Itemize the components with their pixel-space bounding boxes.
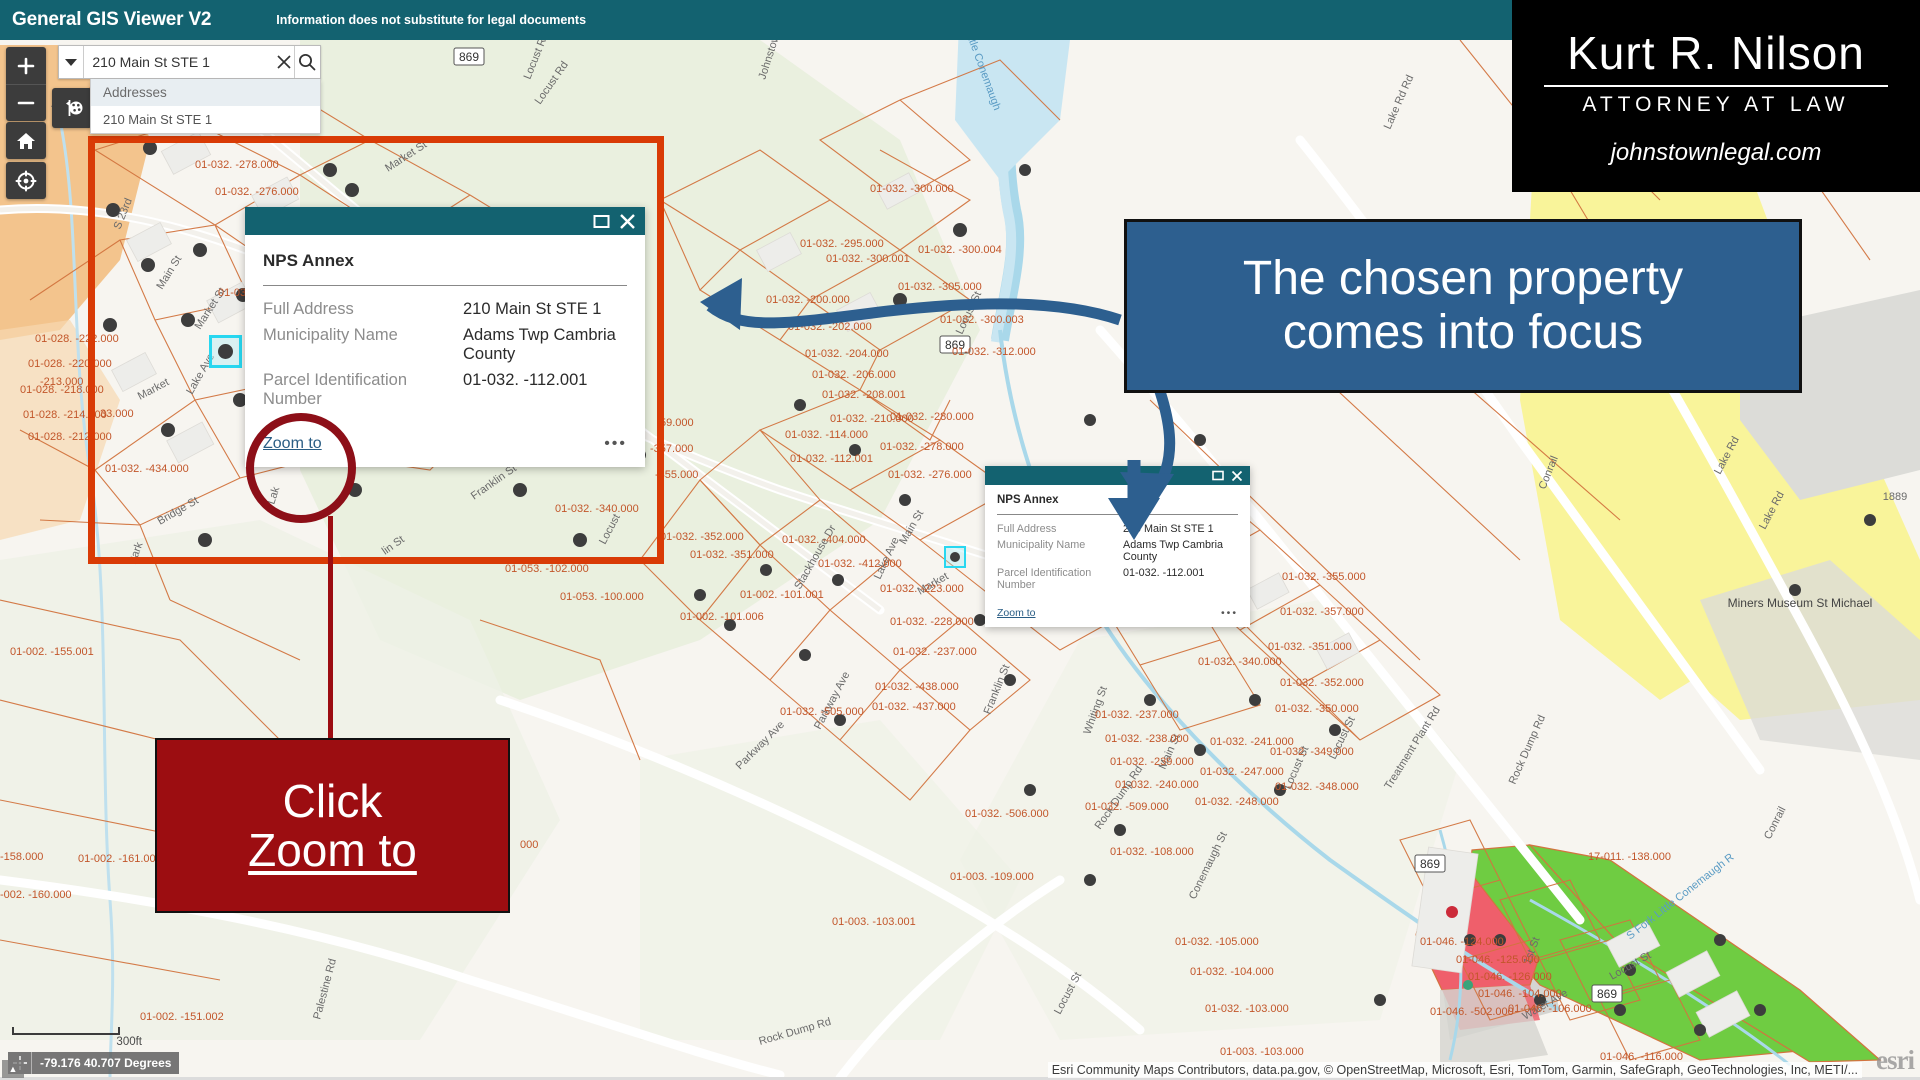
svg-text:59.000: 59.000 — [660, 417, 694, 429]
svg-text:01-002. -101.006: 01-002. -101.006 — [680, 611, 764, 623]
svg-text:01-032. -278.000: 01-032. -278.000 — [880, 441, 964, 453]
svg-text:01-032. -404.000: 01-032. -404.000 — [782, 534, 866, 546]
attribute-key: Full Address — [263, 300, 463, 319]
svg-text:-002. -160.000: -002. -160.000 — [0, 889, 72, 901]
attribute-key: Full Address — [997, 523, 1123, 535]
brand-name: Kurt R. Nilson — [1567, 26, 1865, 80]
search-widget: Addresses 210 Main St STE 1 — [58, 45, 321, 134]
svg-text:01-032. -280.000: 01-032. -280.000 — [890, 411, 974, 423]
svg-text:01-032. -350.000: 01-032. -350.000 — [1275, 703, 1359, 715]
svg-text:01-032. -300.003: 01-032. -300.003 — [940, 314, 1024, 326]
suggestion-group-label: Addresses — [91, 79, 320, 106]
brand-website: johnstownlegal.com — [1611, 139, 1822, 167]
attribute-value: 01-032. -112.001 — [463, 371, 627, 409]
svg-text:01-032. -204.000: 01-032. -204.000 — [805, 348, 889, 360]
attribute-key: Parcel Identification Number — [997, 567, 1123, 591]
svg-text:01-032. -276.000: 01-032. -276.000 — [215, 186, 299, 198]
coordinates-text: -79.176 40.707 Degrees — [32, 1056, 179, 1070]
svg-text:01-046. -124.000: 01-046. -124.000 — [1420, 936, 1504, 948]
callout-line-1: Click — [283, 777, 383, 825]
svg-text:Miners Museum St Michael: Miners Museum St Michael — [1728, 596, 1873, 610]
svg-text:01-032. -300.000: 01-032. -300.000 — [870, 183, 954, 195]
attribute-key: Municipality Name — [263, 326, 463, 364]
svg-text:01-032. -412.000: 01-032. -412.000 — [818, 558, 902, 570]
popup-header — [985, 466, 1250, 485]
map-attribution: Esri Community Maps Contributors, data.p… — [1048, 1062, 1862, 1078]
svg-text:01-032. -505.000: 01-032. -505.000 — [780, 706, 864, 718]
svg-text:01-003. -103.000: 01-003. -103.000 — [1220, 1046, 1304, 1058]
svg-text:01-032. -228.000: 01-032. -228.000 — [890, 616, 974, 628]
callout-line-2: Zoom to — [248, 826, 417, 874]
close-icon[interactable] — [619, 213, 636, 230]
svg-text:01-003. -103.001: 01-003. -103.001 — [832, 916, 916, 928]
attribute-key: Parcel Identification Number — [263, 371, 463, 409]
svg-text:000: 000 — [520, 839, 538, 851]
svg-text:01-032. -355.000: 01-032. -355.000 — [1282, 571, 1366, 583]
svg-text:01-032. -434.000: 01-032. -434.000 — [105, 463, 189, 475]
suggestion-item[interactable]: 210 Main St STE 1 — [91, 106, 320, 133]
attribute-value: 210 Main St STE 1 — [463, 300, 627, 319]
chosen-property-callout: The chosen property comes into focus — [1124, 219, 1802, 393]
svg-text:01-032. -239.000: 01-032. -239.000 — [1110, 756, 1194, 768]
svg-text:01-046. -125.000: 01-046. -125.000 — [1456, 954, 1540, 966]
search-submit-button[interactable] — [294, 46, 320, 78]
search-icon — [298, 53, 316, 71]
blue-callout-line-1: The chosen property — [1243, 252, 1683, 306]
popup-attributes: Full Address 210 Main St STE 1 Municipal… — [997, 515, 1238, 591]
svg-text:-357.000: -357.000 — [650, 443, 693, 455]
svg-text:01-028. -218.000: 01-028. -218.000 — [20, 384, 104, 396]
svg-text:01-032. -237.000: 01-032. -237.000 — [1095, 709, 1179, 721]
svg-text:01-028. -220.000: 01-028. -220.000 — [28, 358, 112, 370]
map-scale-bar: 300ft — [12, 1027, 142, 1048]
locate-control — [6, 162, 46, 199]
svg-text:01-032. -295.000: 01-032. -295.000 — [800, 238, 884, 250]
svg-text:01-032. -240.000: 01-032. -240.000 — [1115, 779, 1199, 791]
svg-text:01-032. -300.004: 01-032. -300.004 — [918, 244, 1002, 256]
svg-text:01-032. -114.000: 01-032. -114.000 — [785, 429, 868, 441]
svg-text:01-032. -352.000: 01-032. -352.000 — [660, 531, 744, 543]
svg-text:01-032. -248.000: 01-032. -248.000 — [1195, 796, 1279, 808]
feature-popup-secondary: NPS Annex Full Address 210 Main St STE 1… — [985, 466, 1250, 627]
svg-text:01-046. -104.000: 01-046. -104.000 — [1478, 988, 1562, 1000]
popup-title: NPS Annex — [997, 494, 1238, 514]
attribute-key: Municipality Name — [997, 539, 1123, 563]
svg-text:01-002. -101.001: 01-002. -101.001 — [740, 589, 824, 601]
selection-dot — [950, 552, 960, 562]
search-suggestions: Addresses 210 Main St STE 1 — [90, 79, 321, 134]
popup-more-options-button[interactable]: ••• — [1221, 607, 1238, 619]
svg-text:01-032. -237.000: 01-032. -237.000 — [893, 646, 977, 658]
branding-card: Kurt R. Nilson ATTORNEY AT LAW johnstown… — [1512, 0, 1920, 192]
popup-zoom-to-link[interactable]: Zoom to — [997, 607, 1036, 619]
scale-bar-graphic — [12, 1027, 120, 1035]
svg-text:01-032. -351.000: 01-032. -351.000 — [690, 549, 774, 561]
maximize-icon[interactable] — [1212, 470, 1224, 481]
esri-logo: esri — [1876, 1045, 1914, 1076]
popup-header — [245, 207, 645, 235]
svg-text:01-032. -104.000: 01-032. -104.000 — [1190, 966, 1274, 978]
selected-feature-marker-inset — [209, 335, 242, 368]
svg-text:01-032. -437.000: 01-032. -437.000 — [872, 701, 956, 713]
svg-text:01-032. -351.000: 01-032. -351.000 — [1268, 641, 1352, 653]
svg-text:01-028. -214.000: 01-028. -214.000 — [23, 409, 107, 421]
scale-bar-label: 300ft — [12, 1036, 142, 1048]
attribute-value: 01-032. -112.001 — [1123, 567, 1238, 591]
svg-text:01-032. -278.000: 01-032. -278.000 — [195, 159, 279, 171]
app-disclaimer: Information does not substitute for lega… — [276, 13, 586, 27]
popup-zoom-to-link[interactable]: Zoom to — [263, 435, 322, 453]
selected-feature-marker-map — [944, 546, 966, 568]
svg-text:01-032. -202.000: 01-032. -202.000 — [788, 321, 872, 333]
svg-text:01-046. -106.000: 01-046. -106.000 — [1508, 1003, 1592, 1015]
svg-text:01-028. -222.000: 01-028. -222.000 — [35, 333, 119, 345]
svg-text:01-032. -340.000: 01-032. -340.000 — [1198, 656, 1282, 668]
svg-text:01-028. -212.000: 01-028. -212.000 — [28, 431, 112, 443]
svg-text:01-032. -206.000: 01-032. -206.000 — [812, 369, 896, 381]
svg-text:01-03: 01-03 — [218, 287, 246, 299]
svg-text:01-032. -112.001: 01-032. -112.001 — [790, 453, 873, 465]
svg-text:01-032. -340.000: 01-032. -340.000 — [555, 503, 639, 515]
coordinates-widget[interactable]: -79.176 40.707 Degrees — [8, 1052, 179, 1074]
svg-text:01-002. -155.001: 01-002. -155.001 — [10, 646, 94, 658]
svg-text:01-032. -506.000: 01-032. -506.000 — [965, 808, 1049, 820]
popup-body: NPS Annex Full Address 210 Main St STE 1… — [985, 485, 1250, 627]
zoom-in-button[interactable] — [6, 47, 46, 84]
search-bar — [58, 45, 321, 79]
close-icon[interactable] — [1231, 470, 1243, 482]
svg-text:01-032. -509.000: 01-032. -509.000 — [1085, 801, 1169, 813]
zoom-out-button[interactable] — [6, 84, 46, 121]
locate-icon[interactable] — [6, 162, 46, 199]
svg-text:01-032. -276.000: 01-032. -276.000 — [888, 469, 972, 481]
feature-popup-primary: NPS Annex Full Address 210 Main St STE 1… — [245, 207, 645, 467]
zoom-controls — [6, 47, 46, 121]
attribute-value: Adams Twp Cambria County — [463, 326, 627, 364]
svg-text:01-053. -102.000: 01-053. -102.000 — [505, 563, 589, 575]
attribution-toggle-button[interactable]: ▲ — [2, 1060, 24, 1078]
svg-text:01-002. -151.002: 01-002. -151.002 — [140, 1011, 224, 1023]
svg-text:01-032. -200.000: 01-032. -200.000 — [766, 294, 850, 306]
popup-more-options-button[interactable]: ••• — [604, 435, 627, 453]
svg-text:869: 869 — [1420, 857, 1440, 871]
popup-attributes: Full Address 210 Main St STE 1 Municipal… — [263, 286, 627, 409]
svg-text:869: 869 — [1597, 987, 1617, 1001]
svg-text:01-032. -247.000: 01-032. -247.000 — [1200, 766, 1284, 778]
attribute-value: 210 Main St STE 1 — [1123, 523, 1238, 535]
svg-text:-158.000: -158.000 — [0, 851, 43, 863]
search-input[interactable] — [84, 46, 273, 78]
svg-text:01-032. -300.001: 01-032. -300.001 — [826, 253, 910, 265]
svg-text:01-046. -502.000: 01-046. -502.000 — [1430, 1006, 1514, 1018]
svg-text:01-032. -352.000: 01-032. -352.000 — [1280, 677, 1364, 689]
svg-text:01-032. -108.000: 01-032. -108.000 — [1110, 846, 1194, 858]
svg-text:-355.000: -355.000 — [655, 469, 698, 481]
app-title: General GIS Viewer V2 — [12, 9, 211, 31]
svg-text:01-032. -223.000: 01-032. -223.000 — [880, 583, 964, 595]
close-icon — [277, 55, 291, 69]
popup-footer: Zoom to ••• — [263, 409, 627, 467]
click-zoom-to-callout: Click Zoom to — [155, 738, 510, 913]
brand-role: ATTORNEY AT LAW — [1582, 93, 1849, 117]
svg-text:01-032. -105.000: 01-032. -105.000 — [1175, 936, 1259, 948]
svg-text:869: 869 — [459, 50, 479, 64]
chevron-down-icon — [64, 58, 78, 67]
svg-text:01-032. -348.000: 01-032. -348.000 — [1275, 781, 1359, 793]
brand-divider — [1544, 85, 1888, 87]
svg-text:01-032. -208.001: 01-032. -208.001 — [822, 389, 906, 401]
svg-text:01-032. -305.000: 01-032. -305.000 — [898, 281, 982, 293]
svg-text:01-032. -357.000: 01-032. -357.000 — [1280, 606, 1364, 618]
home-button[interactable] — [6, 122, 46, 159]
selection-dot — [218, 344, 233, 359]
svg-text:01-002. -161.001: 01-002. -161.001 — [78, 853, 162, 865]
callout-connector-line — [328, 516, 333, 740]
svg-text:01-032. -312.000: 01-032. -312.000 — [952, 346, 1036, 358]
svg-text:01-053. -100.000: 01-053. -100.000 — [560, 591, 644, 603]
popup-title: NPS Annex — [263, 251, 627, 285]
gis-viewer-screenshot: 869 869 869 869 1889 Market St Main St M… — [0, 0, 1920, 1080]
maximize-icon[interactable] — [593, 214, 610, 229]
attribute-value: Adams Twp Cambria County — [1123, 539, 1238, 563]
svg-text:01-003. -109.000: 01-003. -109.000 — [950, 871, 1034, 883]
popup-footer: Zoom to ••• — [997, 591, 1238, 627]
search-clear-button[interactable] — [273, 46, 293, 78]
svg-text:01-032. -349.000: 01-032. -349.000 — [1270, 746, 1354, 758]
home-control — [6, 122, 46, 159]
blue-callout-line-2: comes into focus — [1283, 306, 1643, 360]
svg-text:01-032. -103.000: 01-032. -103.000 — [1205, 1003, 1289, 1015]
svg-text:01-032. -238.000: 01-032. -238.000 — [1105, 733, 1189, 745]
svg-text:1889: 1889 — [1883, 491, 1907, 503]
svg-text:01-046. -126.000: 01-046. -126.000 — [1468, 971, 1552, 983]
search-source-dropdown[interactable] — [59, 46, 84, 78]
popup-body: NPS Annex Full Address 210 Main St STE 1… — [245, 235, 645, 467]
svg-text:17-011. -138.000: 17-011. -138.000 — [1588, 851, 1671, 863]
svg-text:01-032. -438.000: 01-032. -438.000 — [875, 681, 959, 693]
